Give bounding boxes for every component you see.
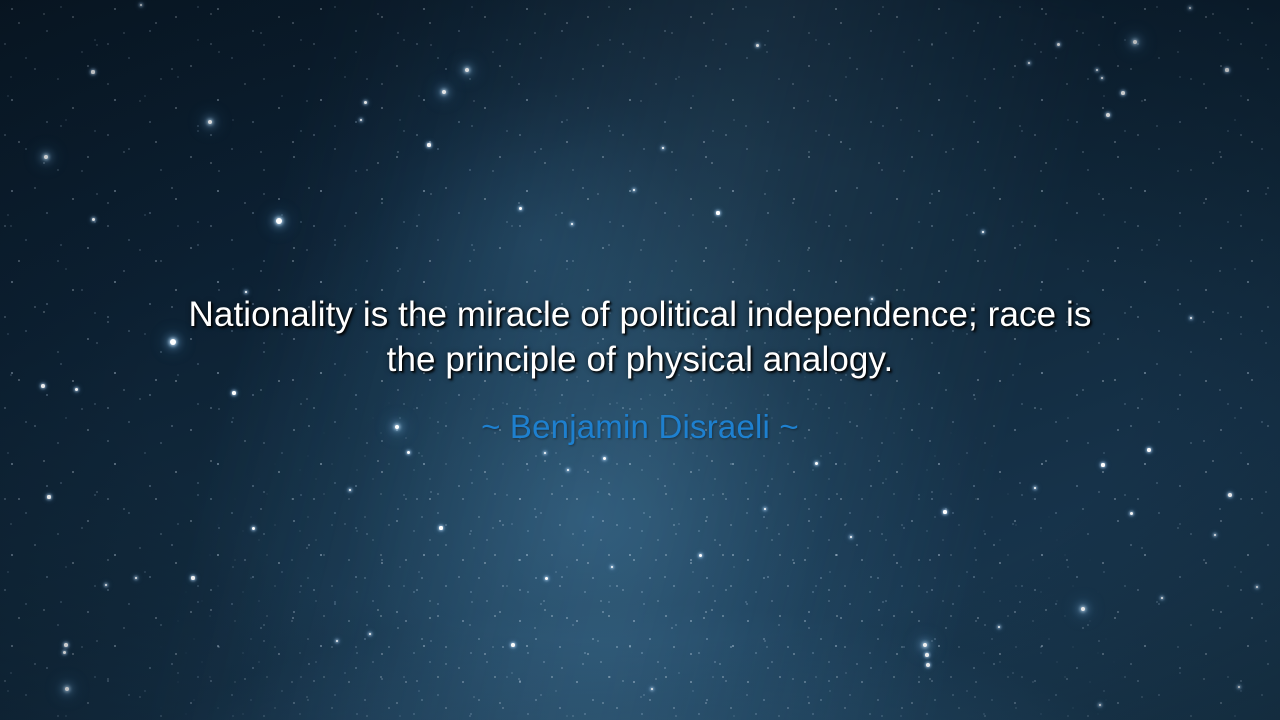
quote-attribution: ~ Benjamin Disraeli ~ [0,406,1280,448]
quote-block: Nationality is the miracle of political … [0,292,1280,382]
quote-image-canvas: Nationality is the miracle of political … [0,0,1280,720]
quote-text: Nationality is the miracle of political … [96,292,1184,382]
